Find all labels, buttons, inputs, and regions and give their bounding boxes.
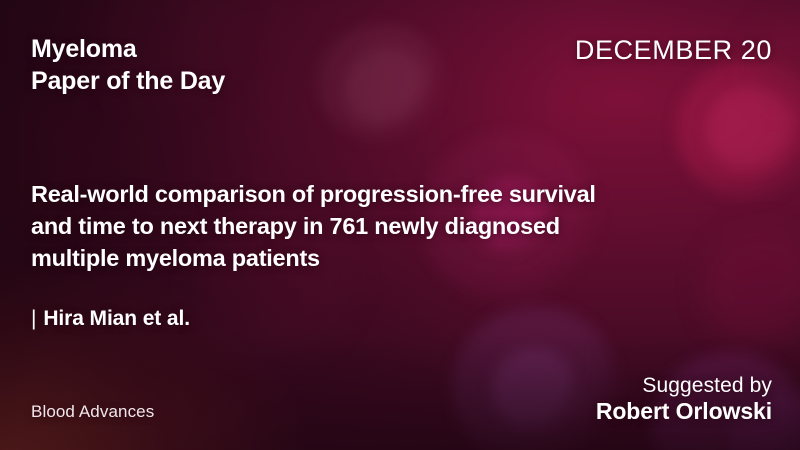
authors-names: Hira Mian et al. <box>43 307 190 330</box>
brand-title-line2: Paper of the Day <box>31 66 225 98</box>
brand-title: Myeloma Paper of the Day <box>31 34 225 97</box>
suggested-by-block: Suggested by Robert Orlowski <box>596 373 772 426</box>
paper-title-line1: Real-world comparison of progression-fre… <box>31 178 691 210</box>
paper-title-line3: multiple myeloma patients <box>31 242 691 274</box>
suggested-by-label: Suggested by <box>596 373 772 399</box>
suggested-by-name: Robert Orlowski <box>596 398 772 426</box>
authors-separator-bar: | <box>31 307 43 330</box>
card-content: Myeloma Paper of the Day DECEMBER 20 Rea… <box>0 0 800 450</box>
paper-title-line2: and time to next therapy in 761 newly di… <box>31 210 691 242</box>
date-label: DECEMBER 20 <box>575 35 772 66</box>
paper-authors: |Hira Mian et al. <box>31 307 190 331</box>
paper-of-the-day-card: Myeloma Paper of the Day DECEMBER 20 Rea… <box>0 0 800 450</box>
paper-title: Real-world comparison of progression-fre… <box>31 178 691 275</box>
journal-name: Blood Advances <box>31 402 154 422</box>
brand-title-line1: Myeloma <box>31 34 225 66</box>
